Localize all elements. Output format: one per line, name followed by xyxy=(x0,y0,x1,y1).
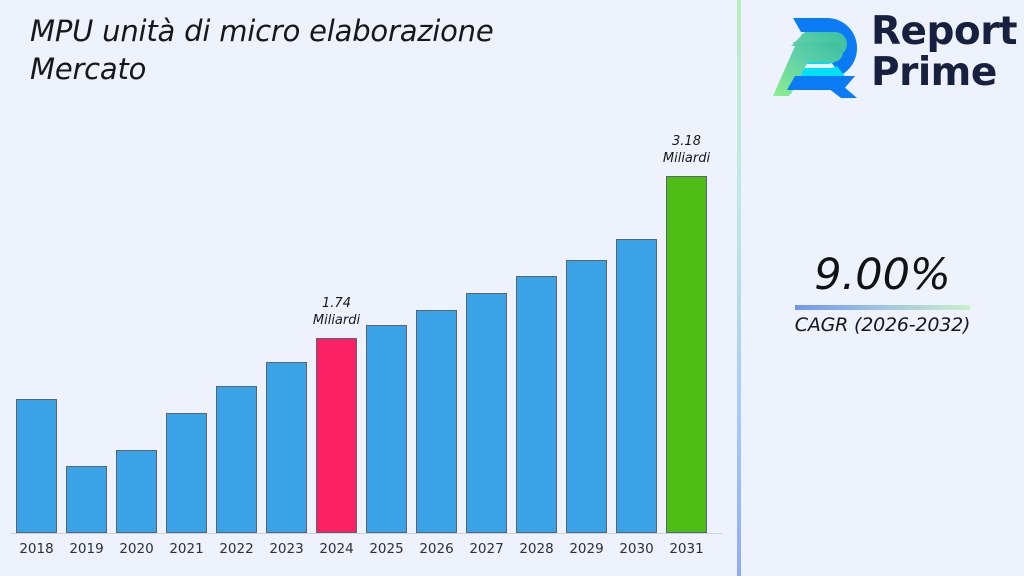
chart-panel: MPU unità di micro elaborazione Mercato … xyxy=(0,0,737,576)
bar-2031 xyxy=(666,176,707,533)
brand-name-line1: Report xyxy=(871,12,1017,53)
cagr-block: 9.00% CAGR (2026-2032) xyxy=(741,252,1024,336)
bar-2025 xyxy=(366,325,407,533)
x-tick-2028: 2028 xyxy=(519,541,553,557)
bar-2029 xyxy=(566,260,607,533)
infographic-root: MPU unità di micro elaborazione Mercato … xyxy=(0,0,1024,576)
bar-2030 xyxy=(616,239,657,533)
bar-value-label-2031: 3.18Miliardi xyxy=(663,134,710,167)
bar-2023 xyxy=(266,362,307,533)
cagr-divider-rule xyxy=(795,305,970,310)
x-tick-2026: 2026 xyxy=(419,541,453,557)
x-tick-2020: 2020 xyxy=(119,541,153,557)
bar-2022 xyxy=(216,386,257,533)
bar-value-number-2024: 1.74 xyxy=(313,296,360,313)
bar-value-unit-2031: Miliardi xyxy=(663,151,710,168)
bar-2026 xyxy=(416,310,457,533)
x-tick-2031: 2031 xyxy=(669,541,703,557)
x-tick-2023: 2023 xyxy=(269,541,303,557)
x-tick-2029: 2029 xyxy=(569,541,603,557)
x-tick-2022: 2022 xyxy=(219,541,253,557)
x-tick-2025: 2025 xyxy=(369,541,403,557)
bar-2021 xyxy=(166,413,207,533)
cagr-caption: CAGR (2026-2032) xyxy=(741,314,1024,336)
x-tick-2019: 2019 xyxy=(69,541,103,557)
x-axis-line xyxy=(10,533,722,534)
x-tick-2027: 2027 xyxy=(469,541,503,557)
report-prime-logo-mark-icon xyxy=(771,12,863,100)
bar-2024 xyxy=(316,338,357,533)
bar-2019 xyxy=(66,466,107,533)
bar-value-unit-2024: Miliardi xyxy=(313,313,360,330)
x-tick-2030: 2030 xyxy=(619,541,653,557)
x-tick-2018: 2018 xyxy=(19,541,53,557)
bar-2027 xyxy=(466,293,507,533)
brand-name-line2: Prime xyxy=(871,53,1017,94)
bar-2020 xyxy=(116,450,157,533)
bar-2028 xyxy=(516,276,557,533)
bar-value-number-2031: 3.18 xyxy=(663,134,710,151)
brand-logo: Report Prime xyxy=(771,8,1021,104)
x-tick-2024: 2024 xyxy=(319,541,353,557)
summary-panel: Report Prime 9.00% CAGR (2026-2032) xyxy=(741,0,1024,576)
brand-wordmark: Report Prime xyxy=(871,12,1017,93)
bar-value-label-2024: 1.74Miliardi xyxy=(313,296,360,329)
x-tick-2021: 2021 xyxy=(169,541,203,557)
cagr-value: 9.00% xyxy=(741,252,1024,299)
bar-2018 xyxy=(16,399,57,533)
bar-chart-plot: 20182019202020212022202320241.74Miliardi… xyxy=(0,0,737,576)
